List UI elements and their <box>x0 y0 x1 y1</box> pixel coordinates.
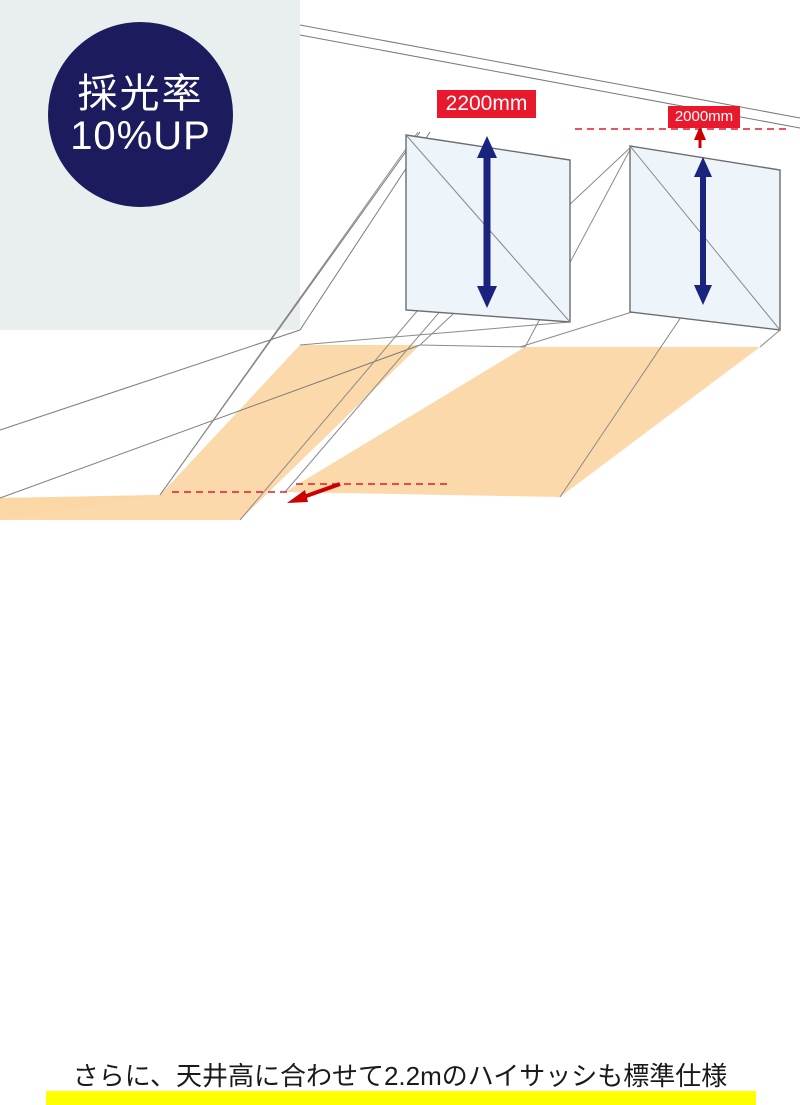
dimension-label-standard-sash: 2000mm <box>668 106 740 128</box>
badge-line2: 10%UP <box>70 115 211 157</box>
caption-highlight <box>46 1091 756 1105</box>
badge-line1: 採光率 <box>78 73 204 115</box>
illustration-stage: 採光率 10%UP 2200mm 2000mm さらに、天井高に合わせて2.2m… <box>0 0 800 599</box>
caption-text: さらに、天井高に合わせて2.2mのハイサッシも標準仕様 <box>0 1056 800 1093</box>
caption-area: さらに、天井高に合わせて2.2mのハイサッシも標準仕様 <box>0 525 800 599</box>
dimension-label-high-sash: 2200mm <box>437 90 536 118</box>
saikou-badge: 採光率 10%UP <box>48 22 233 207</box>
